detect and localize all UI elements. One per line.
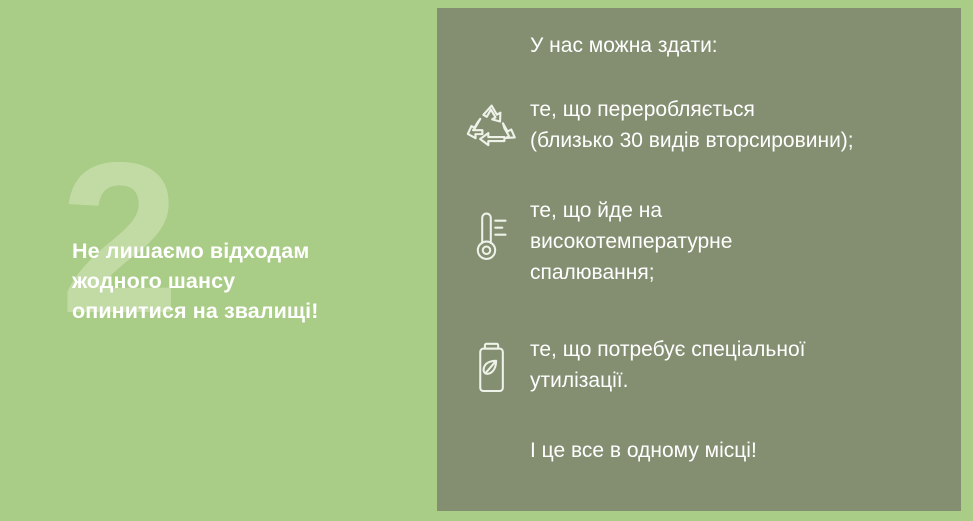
list-item-line: те, що потребує спеціальної [530, 334, 950, 365]
panel-intro-text: У нас можна здати: [530, 31, 718, 61]
list-item-text: те, що переробляється (близько 30 видів … [530, 94, 950, 156]
list-item-line: спалювання; [530, 257, 950, 288]
list-item-line: те, що йде на [530, 195, 950, 226]
battery-leaf-icon [459, 341, 525, 407]
left-heading-line-1: Не лишаємо відходам [72, 236, 422, 266]
right-panel: У нас можна здати: те, [437, 8, 961, 511]
slide-canvas: 2 Не лишаємо відходам жодного шансу опин… [0, 0, 973, 521]
left-heading-line-2: жодного шансу [72, 266, 422, 296]
panel-outro-text: І це все в одному місці! [530, 436, 757, 466]
list-item-text: те, що потребує спеціальної утилізації. [530, 334, 950, 396]
list-item-line: високотемпературне [530, 226, 950, 257]
list-item-text: те, що йде на високотемпературне спалюва… [530, 195, 950, 288]
list-item-line: утилізації. [530, 365, 950, 396]
left-heading: Не лишаємо відходам жодного шансу опинит… [72, 236, 422, 326]
recycling-icon [459, 100, 525, 166]
list-item-line: (близько 30 видів вторсировини); [530, 125, 950, 156]
list-item-line: те, що переробляється [530, 94, 950, 125]
left-panel: 2 Не лишаємо відходам жодного шансу опин… [0, 0, 437, 521]
thermometer-icon [459, 209, 525, 275]
left-heading-line-3: опинитися на звалищі! [72, 296, 422, 326]
